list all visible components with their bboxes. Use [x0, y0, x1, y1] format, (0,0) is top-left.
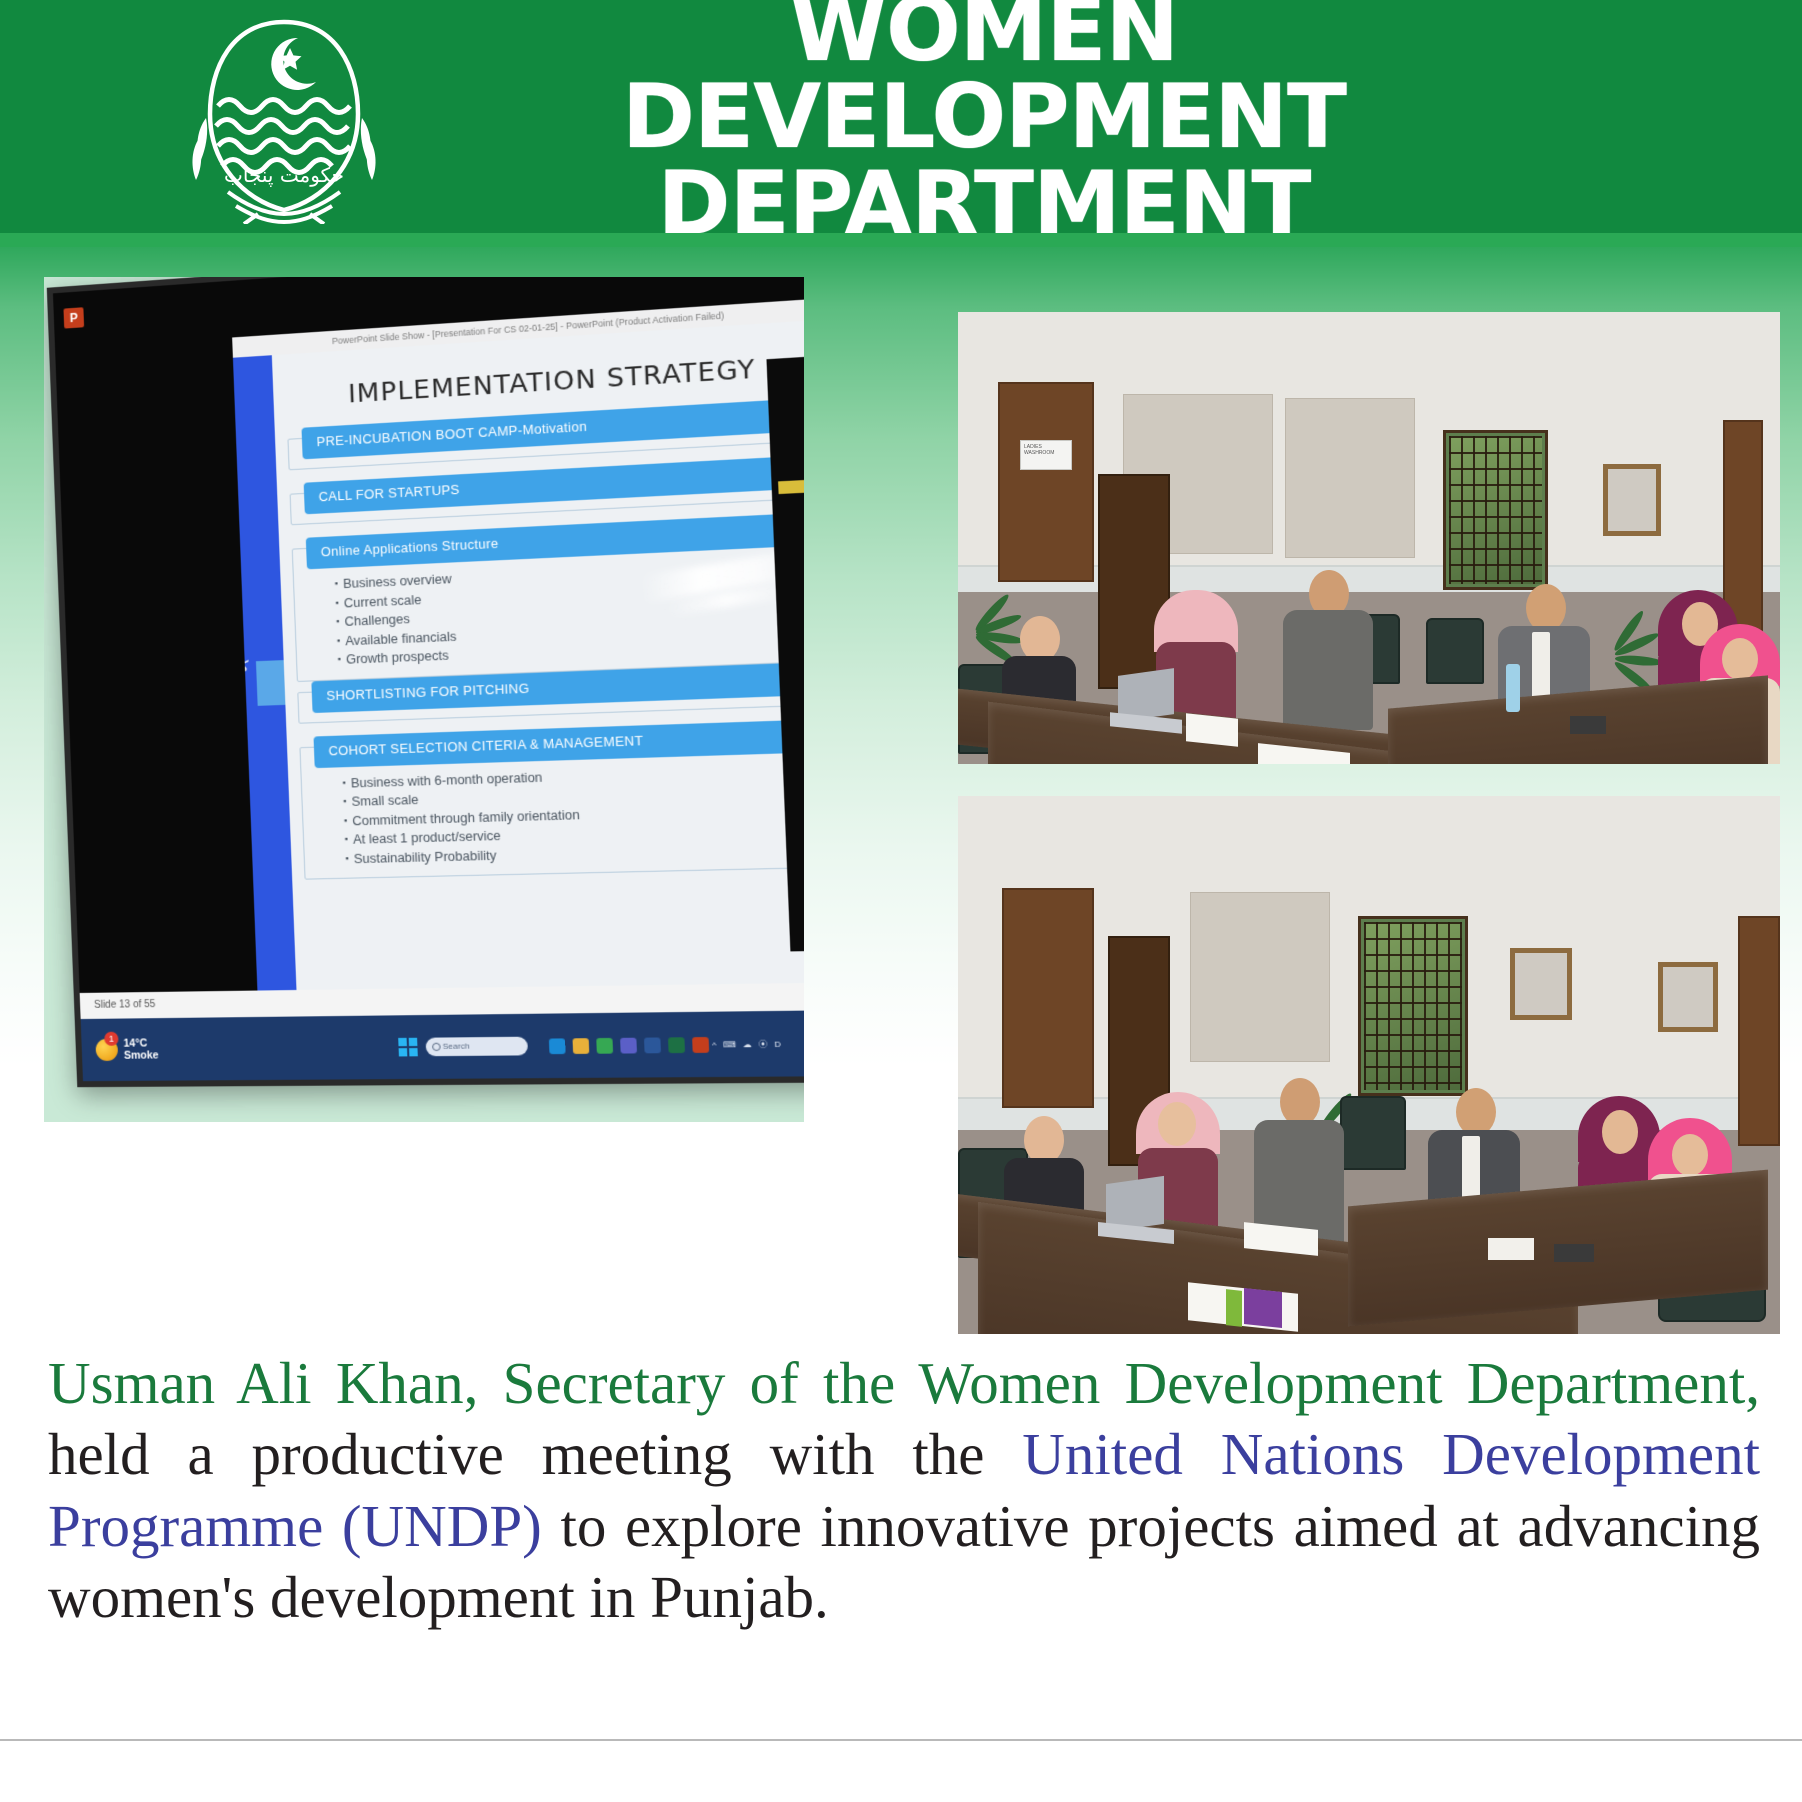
room-door: [1002, 888, 1094, 1108]
person-3: [1254, 1078, 1344, 1246]
slide-yellow-marker: [778, 479, 804, 494]
conference-room-scene-2: [958, 796, 1780, 1334]
app-icon-edge[interactable]: [549, 1038, 566, 1054]
powerpoint-window: PowerPoint Slide Show - [Presentation Fo…: [232, 298, 804, 1027]
window-blind-1: [1190, 892, 1330, 1062]
wall-picture-frame-2: [1658, 962, 1718, 1032]
mobile-phone: [1554, 1244, 1594, 1262]
room-window: [1358, 916, 1468, 1096]
windows-start-icon[interactable]: [398, 1038, 418, 1057]
caption-segment-body-1: held a productive meeting with the: [48, 1421, 1022, 1487]
caption-segment-green: Usman Ali Khan, Secretary of the Women D…: [48, 1350, 1760, 1416]
app-icon-chrome[interactable]: [596, 1037, 613, 1053]
slide-counter: Slide 13 of 55: [94, 999, 156, 1011]
water-bottle: [1506, 664, 1520, 712]
paper-document-2: [1488, 1238, 1534, 1260]
office-chair-2: [1426, 618, 1484, 684]
app-icon-teams[interactable]: [620, 1037, 637, 1053]
bottom-divider: [0, 1739, 1802, 1741]
header-accent-rule: [0, 233, 1802, 247]
slide-canvas: وزیراعلیٰ خواتین کاروباری معاونت مراکز W…: [233, 319, 804, 1027]
presentation-screen-photo: P PowerPoint Slide Show - [Presentation …: [44, 277, 804, 1122]
window-blind-2: [1285, 398, 1415, 558]
paper-document-1: [1186, 713, 1238, 746]
notification-badge: 1: [104, 1032, 119, 1046]
slide-step-bullets: Business with 6-month operation Small sc…: [342, 759, 804, 868]
taskbar-search-box[interactable]: Search: [425, 1037, 528, 1057]
emblem-urdu-text: حکومت پنجاب: [224, 163, 344, 188]
display-screen: P PowerPoint Slide Show - [Presentation …: [47, 277, 804, 1087]
app-icon-explorer[interactable]: [572, 1038, 589, 1054]
mobile-phone: [1570, 716, 1606, 734]
conference-room-scene: LADIES WASHROOM: [958, 312, 1780, 764]
app-icon-word[interactable]: [644, 1037, 661, 1053]
office-chair-1: [1340, 1096, 1406, 1170]
poster-root: حکومت پنجاب WOMEN DEVELOPMENT DEPARTMENT…: [0, 0, 1802, 1802]
page-title: WOMEN DEVELOPMENT DEPARTMENT: [416, 0, 1802, 247]
slide-sidebar-tab-block: [256, 660, 286, 706]
government-of-punjab-emblem: حکومت پنجاب: [170, 10, 398, 224]
weather-icon: 1: [95, 1039, 118, 1061]
taskbar-app-icons[interactable]: [549, 1036, 709, 1053]
meeting-photo-bottom: [958, 796, 1780, 1334]
room-door: [998, 382, 1094, 582]
taskbar-weather-widget[interactable]: 1 14°C Smoke: [95, 1037, 159, 1062]
person-3: [1283, 570, 1373, 730]
slide-content: IMPLEMENTATION STRATEGY PRE-INCUBATION B…: [272, 319, 804, 1027]
slide-step-5: COHORT SELECTION CITERIA & MANAGEMENT Bu…: [313, 719, 804, 869]
wall-picture-frame-1: [1510, 948, 1572, 1020]
wall-picture-frame: [1603, 464, 1661, 536]
weather-condition: Smoke: [124, 1049, 159, 1061]
room-door-right: [1738, 916, 1780, 1146]
system-tray[interactable]: ^ ⌨ ☁ ⦿ D: [712, 1038, 783, 1050]
caption-text: Usman Ali Khan, Secretary of the Women D…: [48, 1348, 1760, 1634]
app-icon-powerpoint[interactable]: [692, 1036, 709, 1052]
door-sign-sublabel: WASHROOM: [1024, 450, 1068, 456]
door-sign: LADIES WASHROOM: [1020, 440, 1072, 470]
notebook-green-band: [1226, 1289, 1242, 1327]
room-window: [1443, 430, 1548, 590]
page-header: حکومت پنجاب WOMEN DEVELOPMENT DEPARTMENT: [0, 0, 1802, 233]
page-title-line1: WOMEN DEVELOPMENT: [622, 0, 1346, 168]
windows-taskbar: 1 14°C Smoke Search: [81, 1010, 804, 1081]
weather-temperature: 14°C: [123, 1037, 158, 1049]
powerpoint-icon: P: [63, 307, 84, 328]
app-icon-excel[interactable]: [668, 1037, 685, 1053]
meeting-photo-top: LADIES WASHROOM: [958, 312, 1780, 764]
notebook-purple-band: [1244, 1288, 1282, 1328]
